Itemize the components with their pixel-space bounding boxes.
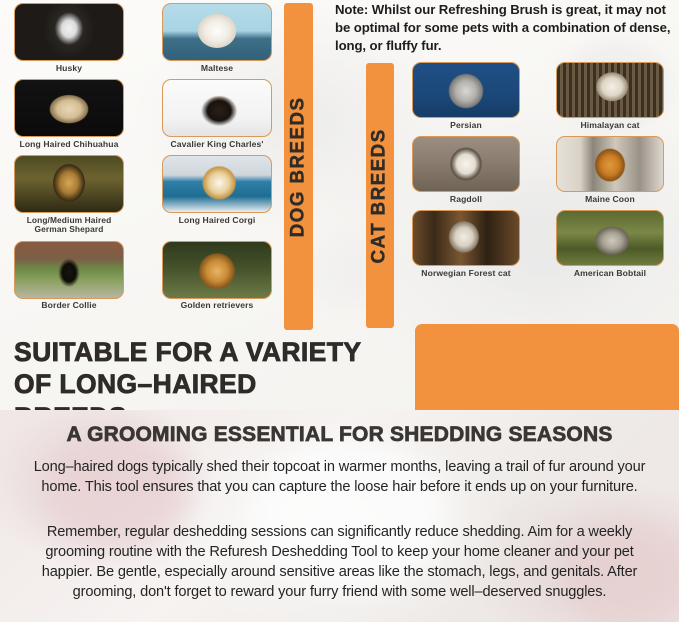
cat-breed-card: American Bobtail [556,210,664,278]
cat-breed-card: Maine Coon [556,136,664,204]
dog-breeds-banner: DOG BREEDS [284,3,313,330]
dog-breed-card: Long Haired Corgi [162,155,272,234]
cat-breed-card: Norwegian Forest cat [412,210,520,278]
dog-breed-card: Long/Medium HairedGerman Shepard [14,155,124,234]
dog-breed-label: Long Haired Corgi [162,216,272,226]
body-paragraph-2: Remember, regular deshedding sessions ca… [22,522,657,603]
body-paragraph-1: Long–haired dogs typically shed their to… [30,457,649,497]
dog-breed-photo [14,241,124,299]
cat-breeds-banner-label: CAT BREEDS [369,128,391,263]
cat-breed-photo [412,210,520,266]
dog-breed-card: Golden retrievers [162,241,272,311]
dog-breed-card: Long Haired Chihuahua [14,79,124,149]
dog-breed-photo [14,3,124,61]
headline-line-1: SUITABLE FOR A VARIETY [14,336,364,368]
cat-breed-card: Himalayan cat [556,62,664,130]
dog-breed-photo [162,79,272,137]
dog-breed-photo [162,155,272,213]
dog-breeds-grid: HuskyMalteseLong Haired ChihuahuaCavalie… [14,3,272,311]
dog-breed-photo [162,241,272,299]
section-heading: A GROOMING ESSENTIAL FOR SHEDDING SEASON… [0,423,679,447]
cat-breeds-grid: PersianHimalayan catRagdollMaine CoonNor… [412,62,670,278]
dog-breed-label: Husky [14,64,124,74]
cat-breed-label: Maine Coon [556,195,664,205]
dog-breed-label: Long Haired Chihuahua [14,140,124,150]
cat-breed-label: American Bobtail [556,269,664,279]
cat-breed-card: Ragdoll [412,136,520,204]
cat-breed-photo [412,136,520,192]
cat-breed-label: Persian [412,121,520,131]
dog-breed-label: Border Collie [14,301,124,311]
orange-accent-block [415,324,679,410]
dog-breed-label: Golden retrievers [162,301,272,311]
dog-breed-photo [14,155,124,213]
dog-breed-label: Maltese [162,64,272,74]
cat-breed-card: Persian [412,62,520,130]
cat-breeds-banner: CAT BREEDS [366,63,394,328]
cat-breed-photo [556,136,664,192]
cat-breed-label: Himalayan cat [556,121,664,131]
dog-breeds-banner-label: DOG BREEDS [288,96,310,237]
dog-breed-label: Long/Medium HairedGerman Shepard [14,216,124,235]
dog-breed-photo [14,79,124,137]
dog-breed-card: Maltese [162,3,272,73]
dog-breed-card: Border Collie [14,241,124,311]
breeds-section: HuskyMalteseLong Haired ChihuahuaCavalie… [0,0,679,410]
infographic-page: HuskyMalteseLong Haired ChihuahuaCavalie… [0,0,679,622]
dog-breed-card: Husky [14,3,124,73]
shedding-seasons-section: A GROOMING ESSENTIAL FOR SHEDDING SEASON… [0,410,679,622]
cat-breed-photo [556,210,664,266]
dog-breed-card: Cavalier King Charles' [162,79,272,149]
dog-breed-photo [162,3,272,61]
product-note: Note: Whilst our Refreshing Brush is gre… [335,1,675,54]
cat-breed-label: Ragdoll [412,195,520,205]
dog-breed-label-line-2: German Shepard [14,225,124,234]
cat-breed-photo [556,62,664,118]
headline-line-2: OF LONG–HAIRED BREEDS [14,368,364,410]
cat-breed-label: Norwegian Forest cat [412,269,520,279]
dog-breed-label: Cavalier King Charles' [162,140,272,150]
page-title: SUITABLE FOR A VARIETY OF LONG–HAIRED BR… [14,336,364,410]
cat-breed-photo [412,62,520,118]
